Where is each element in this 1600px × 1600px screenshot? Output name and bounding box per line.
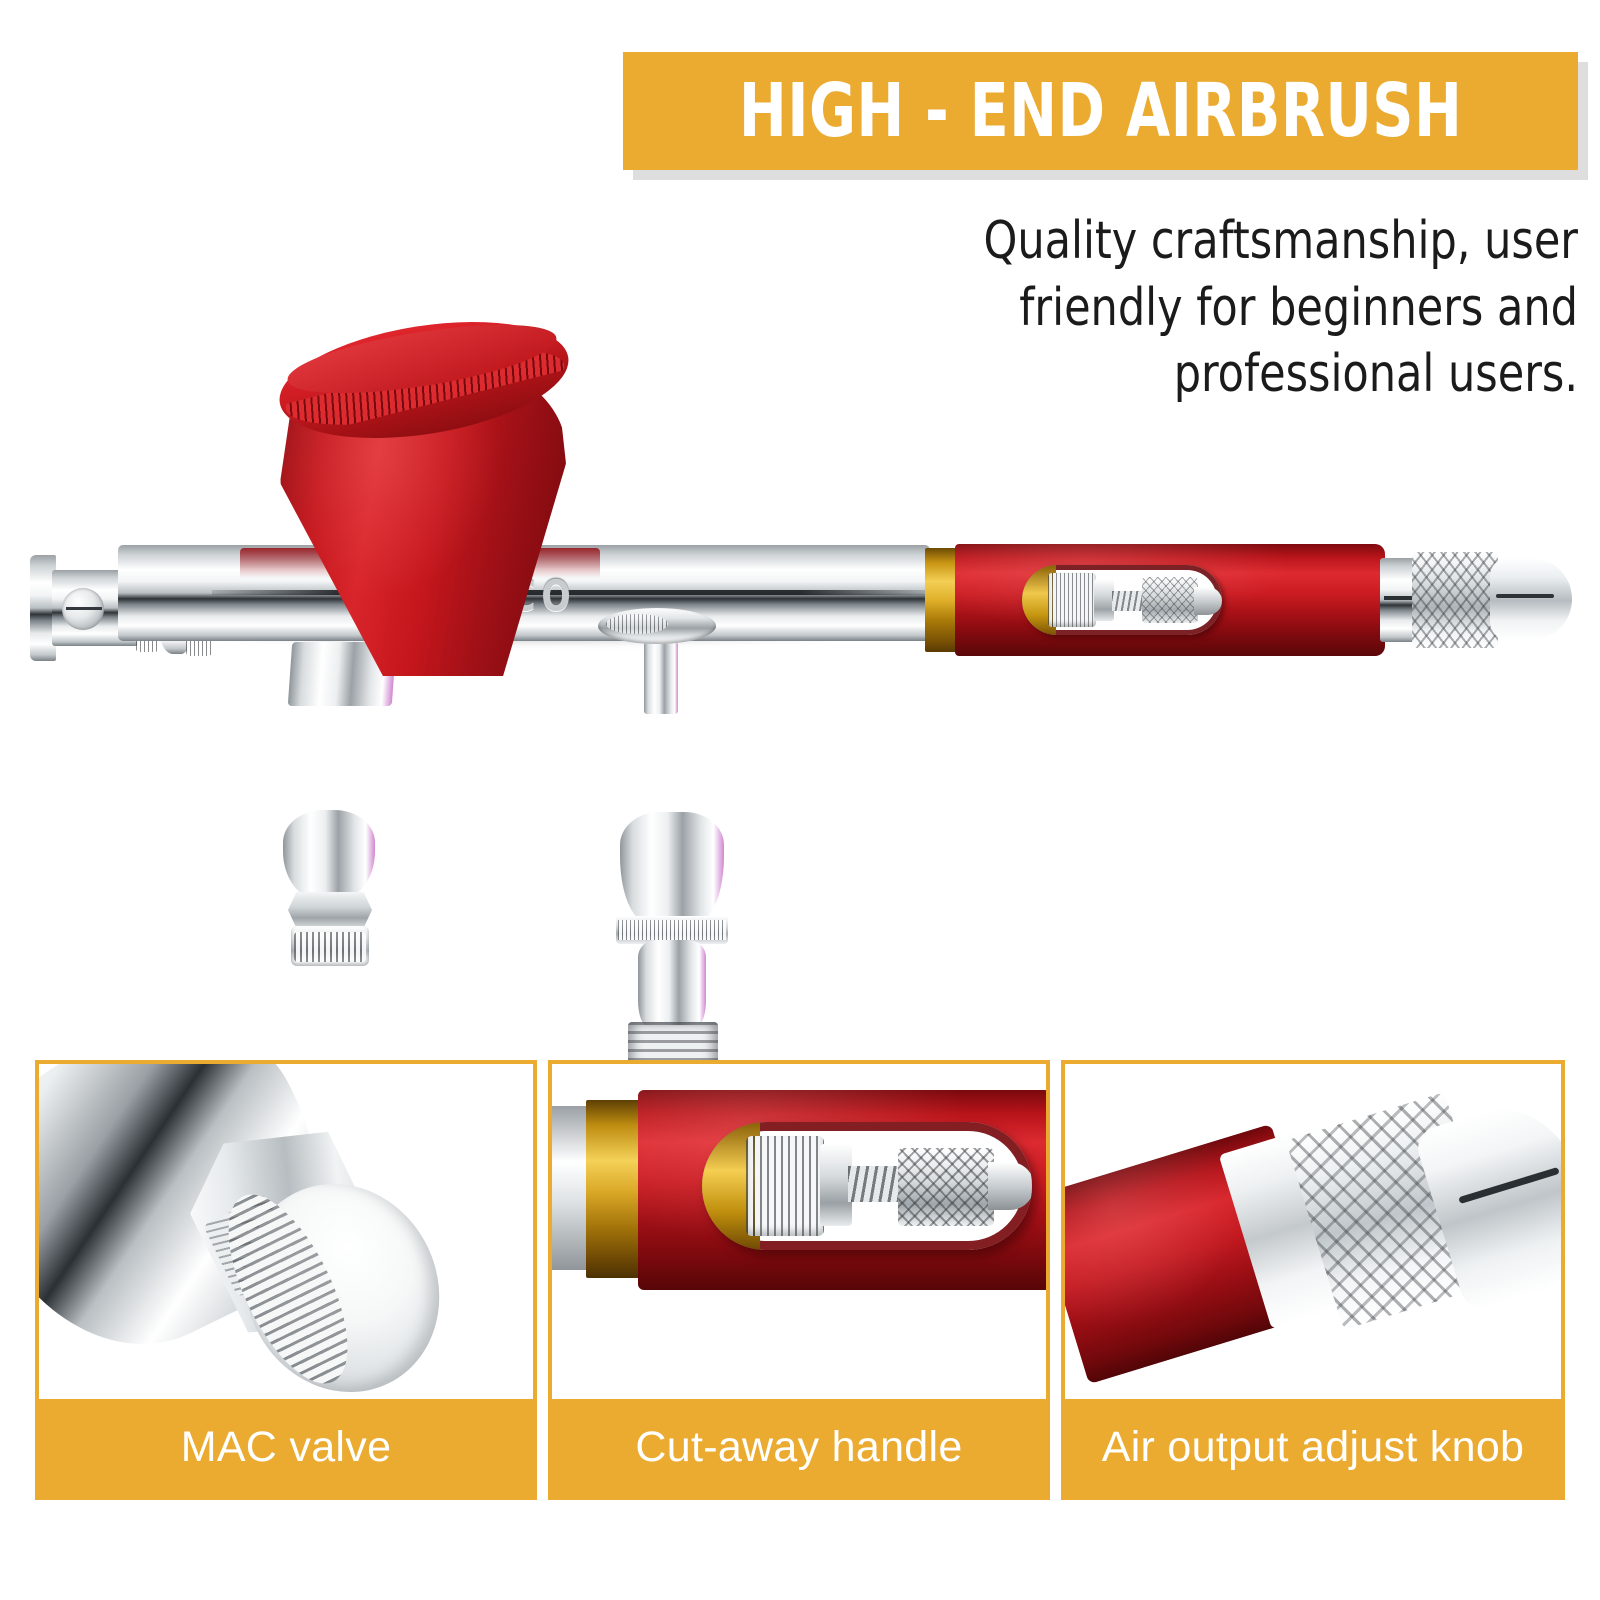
window-screw-thread-closeup-icon (848, 1166, 904, 1202)
tail-end-cap (1490, 558, 1572, 640)
feature-card-mac-valve[interactable]: MAC valve (35, 1060, 537, 1500)
window-knurled-knob (1142, 577, 1198, 623)
page-title: HIGH - END AIRBRUSH (739, 68, 1462, 154)
cut-away-handle-closeup-photo (552, 1064, 1046, 1404)
trigger-stem (644, 642, 678, 714)
window-screw-thread-icon (1112, 591, 1146, 611)
air-output-knob-closeup-photo (1065, 1064, 1561, 1404)
mac-valve-knob-knurl (294, 932, 366, 962)
paint-cup (272, 326, 574, 676)
trigger-knurl-icon (606, 614, 668, 634)
air-connector-waist (638, 940, 706, 1026)
feature-card-cut-away-handle[interactable]: Cut-away handle (548, 1060, 1050, 1500)
mac-valve-closeup-photo (39, 1064, 533, 1404)
tail-end-cap-slot-icon (1496, 594, 1554, 598)
window-tip (1194, 587, 1222, 615)
window-tip-closeup (988, 1162, 1032, 1210)
window-ribbed-nut-closeup (746, 1136, 824, 1236)
feature-card-air-output-knob[interactable]: Air output adjust knob (1061, 1060, 1565, 1500)
mac-valve-hex-nut (288, 892, 372, 928)
card-caption-cut-away-handle: Cut-away handle (552, 1399, 1046, 1496)
handle-window-closeup (702, 1122, 1032, 1250)
window-disc (1094, 579, 1114, 621)
feature-cards: MAC valve Cut-away handle Air outp (0, 1060, 1600, 1530)
product-hero-image: NEOECO (0, 150, 1600, 980)
mac-valve-body (283, 810, 375, 900)
gold-accent-band (925, 548, 959, 652)
needle-cap-slot-icon (66, 607, 102, 610)
air-connector-knurl-icon (618, 920, 726, 940)
air-connector-body (620, 812, 724, 922)
card-caption-mac-valve: MAC valve (39, 1399, 533, 1496)
handle-cutaway-window (1022, 565, 1222, 635)
air-output-adjust-knob (1412, 552, 1498, 648)
window-ribbed-nut (1048, 573, 1096, 627)
window-knurled-knob-closeup (898, 1148, 994, 1226)
card-caption-air-output-knob: Air output adjust knob (1065, 1399, 1561, 1496)
